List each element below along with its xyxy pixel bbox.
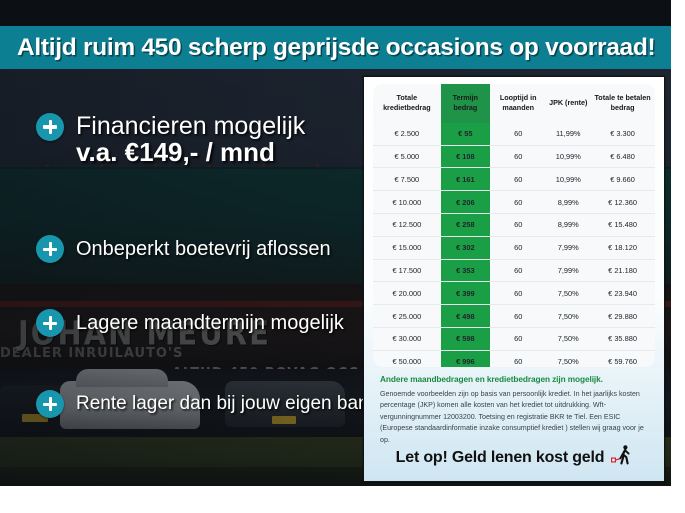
- table-row: € 17.500 € 353 60 7,99% € 21.180: [373, 259, 655, 282]
- table-row: € 2.500 € 55 60 11,99% € 3.300: [373, 123, 655, 145]
- cell-total-payable: € 23.940: [590, 282, 655, 305]
- cell-total-payable: € 35.880: [590, 327, 655, 350]
- cell-monthly-amount: € 353: [441, 259, 490, 282]
- table-row: € 20.000 € 399 60 7,50% € 23.940: [373, 282, 655, 305]
- bullet-label: Lagere maandtermijn mogelijk: [76, 312, 344, 335]
- cell-duration: 60: [490, 168, 546, 191]
- credit-warning-banner: Let op! Geld lenen kost geld: [373, 443, 655, 472]
- cell-total-credit: € 7.500: [373, 168, 441, 191]
- headline-banner: Altijd ruim 450 scherp geprijsde occasio…: [0, 26, 671, 69]
- cell-apr: 10,99%: [546, 145, 590, 168]
- cell-apr: 7,99%: [546, 259, 590, 282]
- cell-duration: 60: [490, 305, 546, 328]
- table-row: € 15.000 € 302 60 7,99% € 18.120: [373, 236, 655, 259]
- cell-total-payable: € 29.880: [590, 305, 655, 328]
- cell-apr: 7,50%: [546, 327, 590, 350]
- cell-duration: 60: [490, 350, 546, 367]
- feature-bullet-list: Financieren mogelijk v.a. €149,- / mnd O…: [0, 69, 360, 486]
- cell-duration: 60: [490, 123, 546, 145]
- bullet-label: Onbeperkt boetevrij aflossen: [76, 238, 331, 261]
- cell-monthly-amount: € 258: [441, 214, 490, 237]
- table-header-row: Totale kredietbedrag Termijn bedrag Loop…: [373, 84, 655, 123]
- cell-total-payable: € 9.660: [590, 168, 655, 191]
- plus-circle-icon: [36, 309, 64, 337]
- cell-apr: 11,99%: [546, 123, 590, 145]
- financing-info-card: Totale kredietbedrag Termijn bedrag Loop…: [363, 76, 665, 482]
- cell-total-credit: € 15.000: [373, 236, 441, 259]
- cell-monthly-amount: € 498: [441, 305, 490, 328]
- bullet-item-penalty-free-repayment: Onbeperkt boetevrij aflossen: [36, 235, 331, 263]
- cell-total-credit: € 50.000: [373, 350, 441, 367]
- cell-total-credit: € 20.000: [373, 282, 441, 305]
- plus-circle-icon: [36, 390, 64, 418]
- bullet-label: Rente lager dan bij jouw eigen bank: [76, 393, 378, 415]
- cell-apr: 8,99%: [546, 191, 590, 214]
- financing-table-body: € 2.500 € 55 60 11,99% € 3.300 € 5.000 €…: [373, 123, 655, 367]
- cell-total-credit: € 5.000: [373, 145, 441, 168]
- cell-duration: 60: [490, 236, 546, 259]
- cell-monthly-amount: € 598: [441, 327, 490, 350]
- note-body: Genoemde voorbeelden zijn op basis van p…: [380, 389, 648, 446]
- table-row: € 10.000 € 206 60 8,99% € 12.360: [373, 191, 655, 214]
- cell-monthly-amount: € 161: [441, 168, 490, 191]
- walking-person-pulling-block-icon: [610, 444, 632, 471]
- cell-apr: 7,50%: [546, 282, 590, 305]
- cell-total-credit: € 10.000: [373, 191, 441, 214]
- table-row: € 5.000 € 108 60 10,99% € 6.480: [373, 145, 655, 168]
- plus-circle-icon: [36, 235, 64, 263]
- credit-warning-text: Let op! Geld lenen kost geld: [396, 449, 605, 467]
- cell-total-payable: € 12.360: [590, 191, 655, 214]
- table-header-monthly-amount: Termijn bedrag: [441, 84, 490, 123]
- cell-monthly-amount: € 206: [441, 191, 490, 214]
- cell-apr: 10,99%: [546, 168, 590, 191]
- cell-monthly-amount: € 996: [441, 350, 490, 367]
- table-row: € 30.000 € 598 60 7,50% € 35.880: [373, 327, 655, 350]
- bullet-item-lower-monthly-term: Lagere maandtermijn mogelijk: [36, 309, 344, 337]
- cell-total-payable: € 59.760: [590, 350, 655, 367]
- table-header-total-credit: Totale kredietbedrag: [373, 84, 441, 123]
- financing-table: Totale kredietbedrag Termijn bedrag Loop…: [373, 84, 655, 367]
- cell-monthly-amount: € 55: [441, 123, 490, 145]
- advertisement-poster: Altijd ruim 450 scherp geprijsde occasio…: [0, 0, 671, 486]
- bullet-sublabel-financing: v.a. €149,- / mnd: [76, 137, 275, 168]
- cell-monthly-amount: € 399: [441, 282, 490, 305]
- cell-total-payable: € 6.480: [590, 145, 655, 168]
- table-row: € 25.000 € 498 60 7,50% € 29.880: [373, 305, 655, 328]
- note-title: Andere maandbedragen en kredietbedragen …: [380, 374, 652, 384]
- table-row: € 50.000 € 996 60 7,50% € 59.760: [373, 350, 655, 367]
- table-row: € 7.500 € 161 60 10,99% € 9.660: [373, 168, 655, 191]
- cell-duration: 60: [490, 282, 546, 305]
- table-header-total-payable: Totale te betalen bedrag: [590, 84, 655, 123]
- cell-total-credit: € 2.500: [373, 123, 441, 145]
- cell-duration: 60: [490, 327, 546, 350]
- cell-monthly-amount: € 302: [441, 236, 490, 259]
- table-header-duration: Looptijd in maanden: [490, 84, 546, 123]
- cell-total-payable: € 3.300: [590, 123, 655, 145]
- cell-total-credit: € 12.500: [373, 214, 441, 237]
- cell-total-payable: € 18.120: [590, 236, 655, 259]
- plus-circle-icon: [36, 113, 64, 141]
- cell-duration: 60: [490, 191, 546, 214]
- cell-total-credit: € 30.000: [373, 327, 441, 350]
- table-header-apr: JPK (rente): [546, 84, 590, 123]
- cell-apr: 8,99%: [546, 214, 590, 237]
- financing-table-container: Totale kredietbedrag Termijn bedrag Loop…: [373, 84, 655, 367]
- cell-apr: 7,99%: [546, 236, 590, 259]
- cell-monthly-amount: € 108: [441, 145, 490, 168]
- headline-text: Altijd ruim 450 scherp geprijsde occasio…: [0, 34, 655, 62]
- table-row: € 12.500 € 258 60 8,99% € 15.480: [373, 214, 655, 237]
- cell-total-payable: € 21.180: [590, 259, 655, 282]
- cell-total-credit: € 17.500: [373, 259, 441, 282]
- cell-duration: 60: [490, 214, 546, 237]
- cell-duration: 60: [490, 145, 546, 168]
- cell-total-credit: € 25.000: [373, 305, 441, 328]
- bullet-item-lower-interest: Rente lager dan bij jouw eigen bank: [36, 390, 378, 418]
- cell-apr: 7,50%: [546, 350, 590, 367]
- cell-total-payable: € 15.480: [590, 214, 655, 237]
- cell-duration: 60: [490, 259, 546, 282]
- cell-apr: 7,50%: [546, 305, 590, 328]
